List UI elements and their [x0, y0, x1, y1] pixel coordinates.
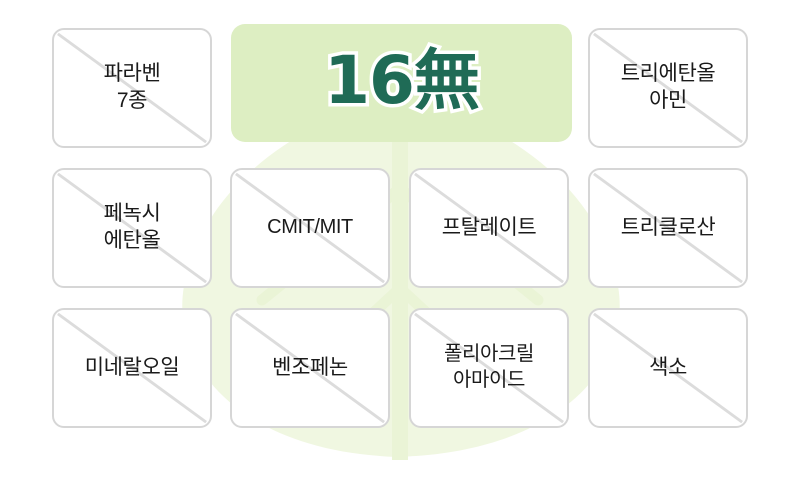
- ingredient-card-label: CMIT/MIT: [267, 215, 353, 241]
- ingredient-card-label: 트리클로산: [621, 215, 716, 242]
- ingredient-card-mineral-oil[interactable]: 미네랄오일: [52, 308, 212, 428]
- ingredient-card-label: 프탈레이트: [442, 215, 537, 242]
- ingredient-card-cmit-mit[interactable]: CMIT/MIT: [230, 168, 390, 288]
- ingredient-card-label: 벤조페논: [272, 355, 348, 382]
- ingredient-card-label: 트리에탄올 아민: [621, 61, 716, 115]
- infographic-canvas: 파라벤 7종 트리에탄올 아민 페녹시 에탄올 CMIT/MIT 프탈: [0, 0, 800, 479]
- ingredient-card-label: 폴리아크릴 아마이드: [444, 342, 534, 393]
- ingredient-card-triethanolamine[interactable]: 트리에탄올 아민: [588, 28, 748, 148]
- ingredient-card-paraben[interactable]: 파라벤 7종: [52, 28, 212, 148]
- ingredient-card-label: 파라벤 7종: [104, 61, 161, 115]
- highlight-card-16mu: 16無: [231, 24, 572, 142]
- ingredient-card-triclosan[interactable]: 트리클로산: [588, 168, 748, 288]
- ingredient-card-label: 페녹시 에탄올: [104, 201, 161, 255]
- highlight-headline: 16無: [324, 48, 479, 114]
- ingredient-card-phthalate[interactable]: 프탈레이트: [409, 168, 569, 288]
- ingredient-card-benzophenone[interactable]: 벤조페논: [230, 308, 390, 428]
- ingredient-card-polyacrylamide[interactable]: 폴리아크릴 아마이드: [409, 308, 569, 428]
- ingredient-card-label: 미네랄오일: [85, 355, 180, 382]
- ingredient-card-label: 색소: [649, 355, 687, 382]
- ingredient-card-colorant[interactable]: 색소: [588, 308, 748, 428]
- ingredient-card-phenoxyethanol[interactable]: 페녹시 에탄올: [52, 168, 212, 288]
